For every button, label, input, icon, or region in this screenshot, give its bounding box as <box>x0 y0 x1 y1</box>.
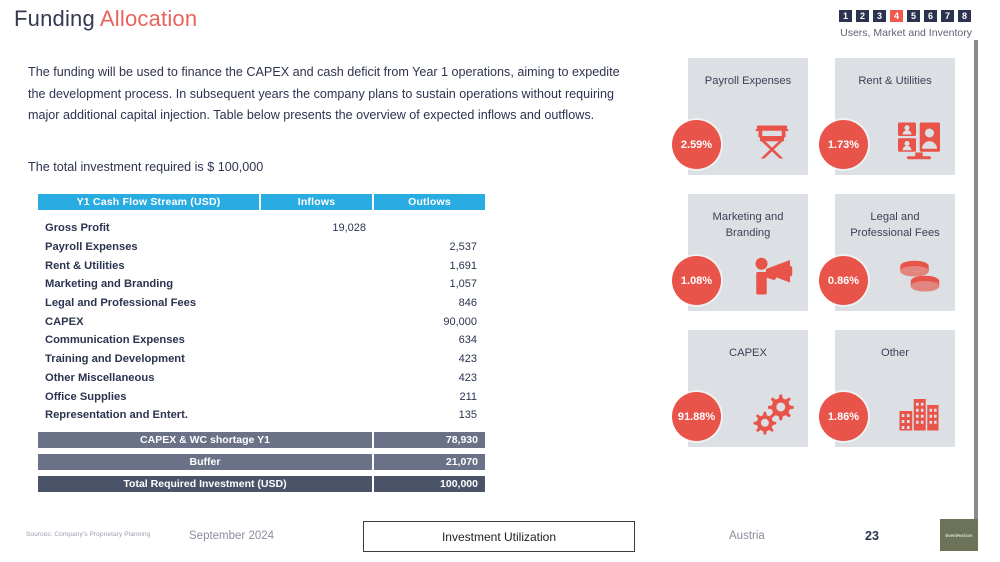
table-summary: CAPEX & WC shortage Y178,930Buffer21,070… <box>38 432 485 492</box>
table-cell-name: Payroll Expenses <box>38 241 259 253</box>
table-summary-label: Buffer <box>38 454 372 470</box>
table-row: Rent & Utilities1,691 <box>38 256 485 275</box>
table-header-inflows: Inflows <box>261 194 372 210</box>
table-cell-outflow: 423 <box>370 353 481 365</box>
expense-card-percent: 1.86% <box>819 392 868 441</box>
megaphone-person-icon <box>748 251 796 299</box>
table-summary-row: Total Required Investment (USD)100,000 <box>38 476 485 492</box>
expense-card[interactable]: Other1.86% <box>835 330 955 447</box>
table-header-row: Y1 Cash Flow Stream (USD) Inflows Outlow… <box>38 194 485 210</box>
table-cell-outflow: 1,691 <box>370 260 481 272</box>
buildings-icon <box>895 387 943 435</box>
table-summary-value: 78,930 <box>374 432 485 448</box>
table-cell-name: CAPEX <box>38 316 259 328</box>
table-row: Other Miscellaneous423 <box>38 369 485 388</box>
page-navigator-caption: Users, Market and Inventory <box>840 27 972 39</box>
table-row: Legal and Professional Fees846 <box>38 294 485 313</box>
table-row: Marketing and Branding1,057 <box>38 275 485 294</box>
table-row: Training and Development423 <box>38 350 485 369</box>
expense-card-label: CAPEX <box>694 345 802 361</box>
expense-card-percent: 0.86% <box>819 256 868 305</box>
page-title-accent: Allocation <box>100 6 197 31</box>
expense-card-label: Rent & Utilities <box>841 73 949 89</box>
footer-date: September 2024 <box>189 530 274 542</box>
expense-card-label: Other <box>841 345 949 361</box>
table-row: Office Supplies211 <box>38 387 485 406</box>
table-row: Gross Profit19,028 <box>38 219 485 238</box>
pager-page-5[interactable]: 5 <box>906 9 921 23</box>
total-investment-line: The total investment required is $ 100,0… <box>28 160 263 174</box>
pager-page-3[interactable]: 3 <box>872 9 887 23</box>
pager-page-1[interactable]: 1 <box>838 9 853 23</box>
expense-card[interactable]: Payroll Expenses2.59% <box>688 58 808 175</box>
table-summary-row: CAPEX & WC shortage Y178,930 <box>38 432 485 448</box>
table-summary-value: 21,070 <box>374 454 485 470</box>
expense-card[interactable]: Marketing and Branding1.08% <box>688 194 808 311</box>
expense-card-grid: Payroll Expenses2.59%Rent & Utilities1.7… <box>688 58 963 447</box>
pager-page-4[interactable]: 4 <box>889 9 904 23</box>
table-cell-name: Training and Development <box>38 353 259 365</box>
table-row: Payroll Expenses2,537 <box>38 238 485 257</box>
pager-page-8[interactable]: 8 <box>957 9 972 23</box>
table-cell-outflow: 211 <box>370 391 481 403</box>
table-cell-outflow: 90,000 <box>370 316 481 328</box>
vertical-scrollbar[interactable] <box>974 40 978 532</box>
table-cell-outflow: 135 <box>370 409 481 421</box>
table-cell-name: Office Supplies <box>38 391 259 403</box>
expense-card-percent: 1.73% <box>819 120 868 169</box>
expense-card[interactable]: Legal and Professional Fees0.86% <box>835 194 955 311</box>
expense-card-percent: 91.88% <box>672 392 721 441</box>
pager-page-7[interactable]: 7 <box>940 9 955 23</box>
page-title-primary: Funding <box>14 6 95 31</box>
table-summary-label: CAPEX & WC shortage Y1 <box>38 432 372 448</box>
expense-card-label: Marketing and Branding <box>694 209 802 241</box>
table-cell-name: Gross Profit <box>38 222 259 234</box>
expense-card-percent: 2.59% <box>672 120 721 169</box>
expense-card-label: Legal and Professional Fees <box>841 209 949 241</box>
company-logo: EventHorizon <box>940 519 978 551</box>
expense-card[interactable]: Rent & Utilities1.73% <box>835 58 955 175</box>
table-cell-outflow: 2,537 <box>370 241 481 253</box>
table-body: Gross Profit19,028Payroll Expenses2,537R… <box>38 219 485 425</box>
table-header-outflows: Outlows <box>374 194 485 210</box>
table-cell-name: Other Miscellaneous <box>38 372 259 384</box>
pager-page-2[interactable]: 2 <box>855 9 870 23</box>
intro-paragraph: The funding will be used to finance the … <box>28 62 634 127</box>
footer-country: Austria <box>729 530 765 542</box>
pager-page-6[interactable]: 6 <box>923 9 938 23</box>
table-cell-name: Representation and Entert. <box>38 409 259 421</box>
coin-stacks-icon <box>895 251 943 299</box>
table-cell-outflow: 846 <box>370 297 481 309</box>
table-cell-name: Marketing and Branding <box>38 278 259 290</box>
directors-chair-icon <box>748 115 796 163</box>
expense-card[interactable]: CAPEX91.88% <box>688 330 808 447</box>
video-conference-icon <box>895 115 943 163</box>
table-summary-value: 100,000 <box>374 476 485 492</box>
table-cell-outflow: 423 <box>370 372 481 384</box>
table-row: Communication Expenses634 <box>38 331 485 350</box>
cash-flow-table: Y1 Cash Flow Stream (USD) Inflows Outlow… <box>38 194 485 498</box>
source-note: Sources: Company's Proprietary Planning <box>26 531 150 538</box>
table-row: Representation and Entert.135 <box>38 406 485 425</box>
table-cell-name: Legal and Professional Fees <box>38 297 259 309</box>
table-header-stream: Y1 Cash Flow Stream (USD) <box>38 194 259 210</box>
footer-page-number: 23 <box>865 529 879 543</box>
page-navigator[interactable]: 12345678 <box>838 9 972 23</box>
table-summary-label: Total Required Investment (USD) <box>38 476 372 492</box>
company-logo-text: EventHorizon <box>945 533 972 538</box>
expense-card-label: Payroll Expenses <box>694 73 802 89</box>
footer-section-chip[interactable]: Investment Utilization <box>363 521 635 552</box>
table-row: CAPEX90,000 <box>38 312 485 331</box>
table-cell-outflow: 1,057 <box>370 278 481 290</box>
table-summary-row: Buffer21,070 <box>38 454 485 470</box>
page-title: FundingAllocation <box>14 6 197 32</box>
expense-card-percent: 1.08% <box>672 256 721 305</box>
gears-icon <box>748 387 796 435</box>
table-cell-name: Communication Expenses <box>38 334 259 346</box>
table-cell-outflow: 634 <box>370 334 481 346</box>
table-cell-name: Rent & Utilities <box>38 260 259 272</box>
table-cell-inflow: 19,028 <box>259 222 370 234</box>
